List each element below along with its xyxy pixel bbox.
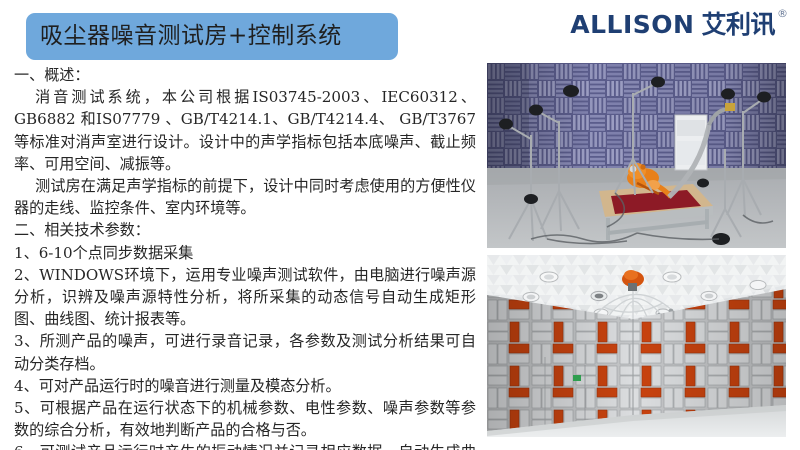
logo-latin-text: ALLISON [570, 10, 694, 40]
body-text-block: 一、概述： 消音测试系统，本公司根据IS03745-2003、IEC60312、… [14, 64, 476, 450]
paragraph-param-6: 6、可测试产品运行时产生的振动情况并记录相应数据，自动生成曲线图、统计报表等。 [14, 441, 476, 450]
brand-logo: ALLISON 艾利讯 ® [570, 10, 788, 48]
registered-trademark-icon: ® [777, 7, 788, 20]
anechoic-chamber-vacuum-test-photo [487, 63, 786, 248]
paragraph-params-heading: 二、相关技术参数： [14, 219, 476, 241]
paragraph-overview-heading: 一、概述： [14, 64, 476, 86]
slide-canvas: 吸尘器噪音测试房+控制系统 ALLISON 艾利讯 ® 一、概述： 消音测试系统… [0, 0, 800, 450]
paragraph-param-2: 2、WINDOWS环境下，运用专业噪声测试软件，由电脑进行噪声源分析，识辨及噪声… [14, 264, 476, 331]
paragraph-param-3: 3、所测产品的噪声，可进行录音记录，各参数及测试分析结果可自动分类存档。 [14, 330, 476, 374]
paragraph-param-4: 4、可对产品运行时的噪音进行测量及模态分析。 [14, 375, 476, 397]
paragraph-overview-2: 测试房在满足声学指标的前提下，设计中同时考虑使用的方便性仪器的走线、监控条件、室… [14, 175, 476, 219]
page-title: 吸尘器噪音测试房+控制系统 [40, 14, 380, 58]
paragraph-param-5: 5、可根据产品在运行状态下的机械参数、电性参数、噪声参数等参数的综合分析，有效地… [14, 397, 476, 441]
logo-cjk-text: 艾利讯 [701, 10, 775, 40]
paragraph-overview-1: 消音测试系统，本公司根据IS03745-2003、IEC60312、GB6882… [14, 86, 476, 175]
semi-anechoic-chamber-interior-photo [487, 255, 786, 437]
paragraph-param-1: 1、6-10个点同步数据采集 [14, 242, 476, 264]
